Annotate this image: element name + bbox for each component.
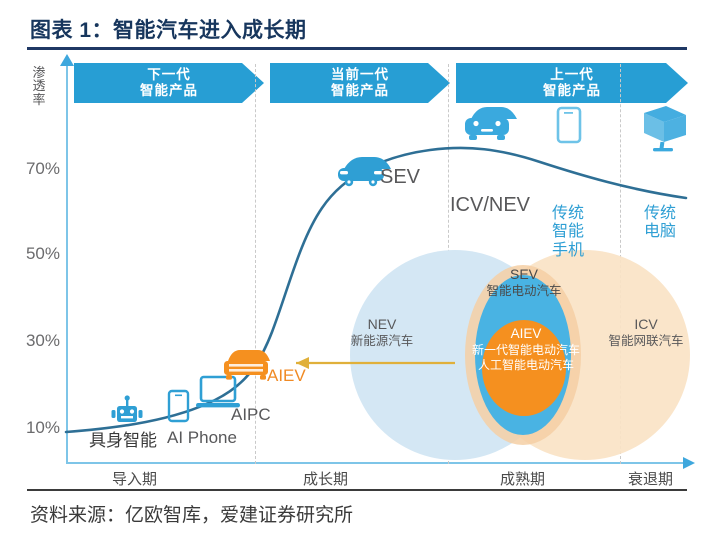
- robot-icon: [112, 395, 143, 422]
- label-sev: SEV: [380, 166, 420, 189]
- chart-plot-area: 下一代 智能产品 当前一代 智能产品 上一代 智能产品 渗透率 70% 50% …: [0, 50, 715, 490]
- orange-car-icon: [224, 350, 270, 380]
- label-aiev: AIEV: [267, 366, 306, 386]
- tablet-icon: [558, 108, 580, 142]
- source-note: 资料来源：亿欧智库，爱建证券研究所: [30, 500, 353, 527]
- label-icv-nev: ICV/NEV: [450, 194, 530, 217]
- label-embodied-intelligence: 具身智能: [89, 426, 157, 451]
- device-icon-layer: [0, 50, 715, 490]
- figure-root: 图表 1：智能汽车进入成长期 下一代 智能产品 当前一代 智能产品 上一代 智能…: [0, 0, 715, 554]
- phone-icon: [169, 391, 188, 421]
- monitor-icon: [644, 106, 686, 151]
- label-traditional-pc: 传统电脑: [638, 205, 682, 242]
- laptop-icon: [196, 377, 240, 407]
- page-title: 图表 1：智能汽车进入成长期: [30, 14, 307, 44]
- blue-car-front-icon: [465, 107, 517, 140]
- label-ai-phone: AI Phone: [167, 428, 237, 448]
- label-aipc: AIPC: [231, 405, 271, 425]
- label-traditional-smartphone: 传统智能手机: [546, 205, 590, 260]
